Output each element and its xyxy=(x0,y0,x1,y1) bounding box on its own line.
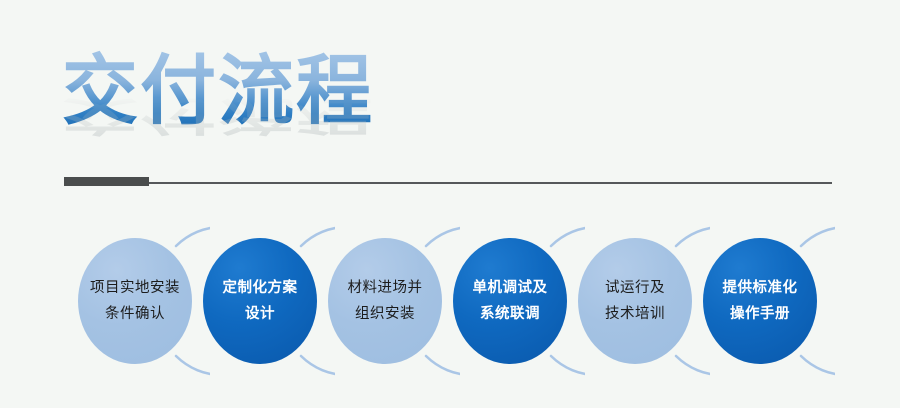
step-bubble-6[interactable]: 提供标准化 操作手册 xyxy=(703,238,817,364)
step-bubble-4[interactable]: 单机调试及 系统联调 xyxy=(453,238,567,364)
step-bubble-1[interactable]: 项目实地安装 条件确认 xyxy=(78,238,192,364)
step-bubble-5[interactable]: 试运行及 技术培训 xyxy=(578,238,692,364)
step-bubble-2[interactable]: 定制化方案 设计 xyxy=(203,238,317,364)
flow-step-6[interactable]: 提供标准化 操作手册 xyxy=(683,222,835,380)
step-label-line1: 定制化方案 xyxy=(223,275,298,301)
step-label-line2: 系统联调 xyxy=(480,301,540,327)
step-label-line2: 技术培训 xyxy=(605,301,665,327)
step-label-line2: 组织安装 xyxy=(355,301,415,327)
page-title: 交付流程 xyxy=(62,44,562,140)
divider-accent-bar xyxy=(64,177,149,186)
step-label-line2: 操作手册 xyxy=(730,301,790,327)
step-label-line2: 设计 xyxy=(245,301,275,327)
step-label-line1: 单机调试及 xyxy=(473,275,548,301)
step-bubble-3[interactable]: 材料进场并 组织安装 xyxy=(328,238,442,364)
page-root: 交付流程 交付流程 项目实地安装 条件确认 定制化方案 设计 xyxy=(0,0,900,408)
delivery-process-flow: 项目实地安装 条件确认 定制化方案 设计 材料进场并 组织安装 xyxy=(0,222,900,382)
step-label-line1: 试运行及 xyxy=(605,275,665,301)
step-label-line1: 提供标准化 xyxy=(723,275,798,301)
divider xyxy=(64,177,832,189)
divider-line xyxy=(149,182,832,184)
title-block: 交付流程 交付流程 xyxy=(62,44,562,164)
step-label-line2: 条件确认 xyxy=(105,301,165,327)
step-label-line1: 项目实地安装 xyxy=(90,275,180,301)
step-label-line1: 材料进场并 xyxy=(348,275,423,301)
